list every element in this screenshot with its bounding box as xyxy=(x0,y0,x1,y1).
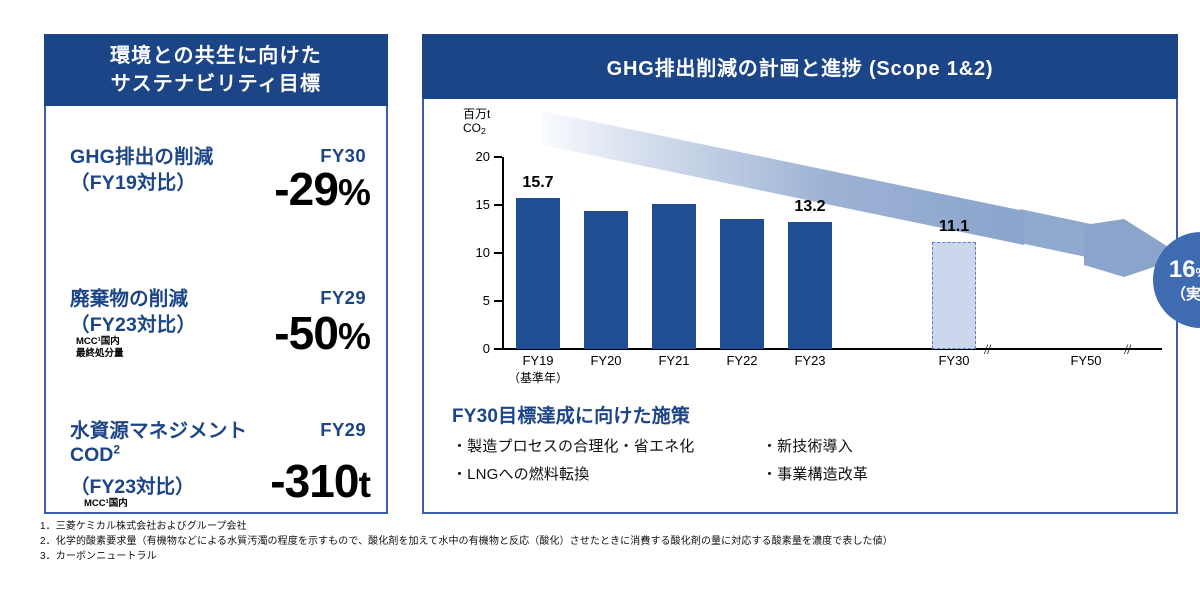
slide-canvas: 環境との共生に向けた サステナビリティ目標 GHG排出の削減 （FY19対比） … xyxy=(0,0,1200,603)
bar-label-FY30: 11.1 xyxy=(918,218,990,236)
callout-16-line1: 16%削減 xyxy=(1169,256,1200,285)
measure-c1-item-1: ・LNGへの燃料転換 xyxy=(452,463,762,484)
footnote-3: 3．カーボンニュートラル xyxy=(40,549,1190,564)
goal-water-basis: （FY23対比） xyxy=(70,470,195,499)
measures-columns: ・製造プロセスの合理化・省エネ化・LNGへの燃料転換 ・新技術導入・事業構造改革 xyxy=(452,435,1152,484)
sustainability-goals-panel: 環境との共生に向けた サステナビリティ目標 GHG排出の削減 （FY19対比） … xyxy=(44,34,388,514)
x-label-FY19: FY19（基準年） xyxy=(500,353,576,386)
left-header-line1: 環境との共生に向けた xyxy=(110,42,322,70)
bar-FY30 xyxy=(932,242,976,349)
goal-water-note: MCC¹国内 xyxy=(84,498,128,510)
goal-waste-value: -50% xyxy=(274,310,370,356)
y-tick-0 xyxy=(494,348,502,350)
bar-label-FY19: 15.7 xyxy=(502,174,574,192)
goal-ghg-value: -29% xyxy=(274,166,370,212)
x-sublabel-FY19: （基準年） xyxy=(500,369,576,386)
measures-title: FY30目標達成に向けた施策 xyxy=(452,401,1152,428)
y-tick-15 xyxy=(494,204,502,206)
x-label-FY50: FY50 xyxy=(1048,353,1124,368)
goal-water-title: 水資源マネジメント xyxy=(70,418,280,444)
y-tick-label-15: 15 xyxy=(460,197,490,212)
footnote-1: 1．三菱ケミカル株式会社およびグループ会社 xyxy=(40,519,1190,534)
y-tick-5 xyxy=(494,300,502,302)
bar-FY21 xyxy=(652,204,696,349)
y-tick-label-0: 0 xyxy=(460,341,490,356)
goal-waste-fy: FY29 xyxy=(320,287,366,309)
axis-break-icon-1: // xyxy=(984,342,990,359)
ghg-chart-panel: GHG排出削減の計画と進捗 (Scope 1&2) xyxy=(422,34,1178,514)
measure-c2-item-0: ・新技術導入 xyxy=(762,435,868,456)
y-axis-unit-label: 百万t CO2 xyxy=(463,107,490,137)
callout-16-line2: （実績） xyxy=(1171,286,1200,304)
ghg-bar-chart: 百万t CO2 05101520 15.713.211.10 FY19（基準年）… xyxy=(424,99,1176,399)
goal-water-fy: FY29 xyxy=(320,419,366,441)
axis-break-icon-2: // xyxy=(1124,342,1130,359)
goal-waste-title: 廃棄物の削減 （FY23対比） xyxy=(70,286,280,339)
y-tick-10 xyxy=(494,252,502,254)
bar-FY23 xyxy=(788,222,832,349)
left-panel-header: 環境との共生に向けた サステナビリティ目標 xyxy=(44,34,388,106)
fy30-measures-block: FY30目標達成に向けた施策 ・製造プロセスの合理化・省エネ化・LNGへの燃料転… xyxy=(452,401,1152,484)
bar-label-FY23: 13.2 xyxy=(774,198,846,216)
footnotes-block: 1．三菱ケミカル株式会社およびグループ会社2．化学的酸素要求量（有機物などによる… xyxy=(40,519,1190,565)
x-label-FY21: FY21 xyxy=(636,353,712,368)
y-tick-label-20: 20 xyxy=(460,149,490,164)
y-tick-label-10: 10 xyxy=(460,245,490,260)
measure-c2-item-1: ・事業構造改革 xyxy=(762,463,868,484)
bar-FY20 xyxy=(584,211,628,349)
y-tick-label-5: 5 xyxy=(460,293,490,308)
goal-ghg-title: GHG排出の削減 （FY19対比） xyxy=(70,144,280,197)
bar-FY19 xyxy=(516,198,560,349)
measures-column-1: ・製造プロセスの合理化・省エネ化・LNGへの燃料転換 xyxy=(452,435,762,484)
goal-waste-note: MCC¹国内 最終処分量 xyxy=(76,336,124,360)
goal-water-value: -310t xyxy=(270,458,370,504)
bar-FY22 xyxy=(720,219,764,349)
measure-c1-item-0: ・製造プロセスの合理化・省エネ化 xyxy=(452,435,762,456)
left-header-line2: サステナビリティ目標 xyxy=(110,70,322,98)
x-label-FY20: FY20 xyxy=(568,353,644,368)
y-tick-20 xyxy=(494,156,502,158)
x-label-FY23: FY23 xyxy=(772,353,848,368)
footnote-2: 2．化学的酸素要求量（有機物などによる水質汚濁の程度を示すもので、酸化剤を加えて… xyxy=(40,534,1190,549)
x-label-FY30: FY30 xyxy=(916,353,992,368)
right-panel-header: GHG排出削減の計画と進捗 (Scope 1&2) xyxy=(422,34,1178,99)
x-label-FY22: FY22 xyxy=(704,353,780,368)
goal-water-cod: COD2 xyxy=(70,444,120,467)
measures-column-2: ・新技術導入・事業構造改革 xyxy=(762,435,868,484)
